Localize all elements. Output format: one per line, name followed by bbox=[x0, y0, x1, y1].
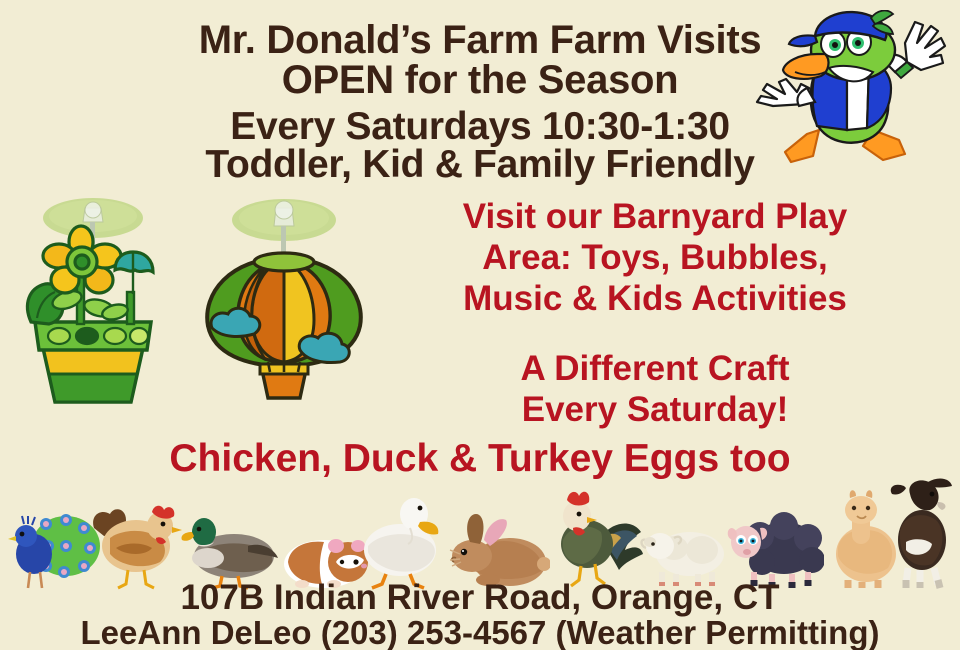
craft-line-2: Every Saturday! bbox=[350, 389, 960, 430]
goat-icon bbox=[888, 476, 960, 590]
barnyard-line-2: Area: Toys, Bubbles, bbox=[350, 237, 960, 278]
white-duck-icon bbox=[360, 488, 450, 590]
hot-air-balloon-suncatcher-icon bbox=[196, 196, 371, 411]
duck-mascot-icon bbox=[755, 10, 960, 170]
contact-line: LeeAnn DeLeo (203) 253-4567 (Weather Per… bbox=[0, 614, 960, 650]
barnyard-line-1: Visit our Barnyard Play bbox=[350, 196, 960, 237]
rooster-icon bbox=[547, 484, 643, 590]
eggs-line: Chicken, Duck & Turkey Eggs too bbox=[0, 437, 960, 481]
flyer-canvas: Mr. Donald’s Farm Farm Visits OPEN for t… bbox=[0, 0, 960, 650]
address-line: 107B Indian River Road, Orange, CT bbox=[0, 578, 960, 618]
flowerpot-suncatcher-icon bbox=[15, 196, 175, 411]
craft-line-1: A Different Craft bbox=[350, 348, 960, 389]
barnyard-line-3: Music & Kids Activities bbox=[350, 278, 960, 319]
hen-icon bbox=[90, 494, 182, 590]
animal-strip bbox=[0, 482, 960, 590]
